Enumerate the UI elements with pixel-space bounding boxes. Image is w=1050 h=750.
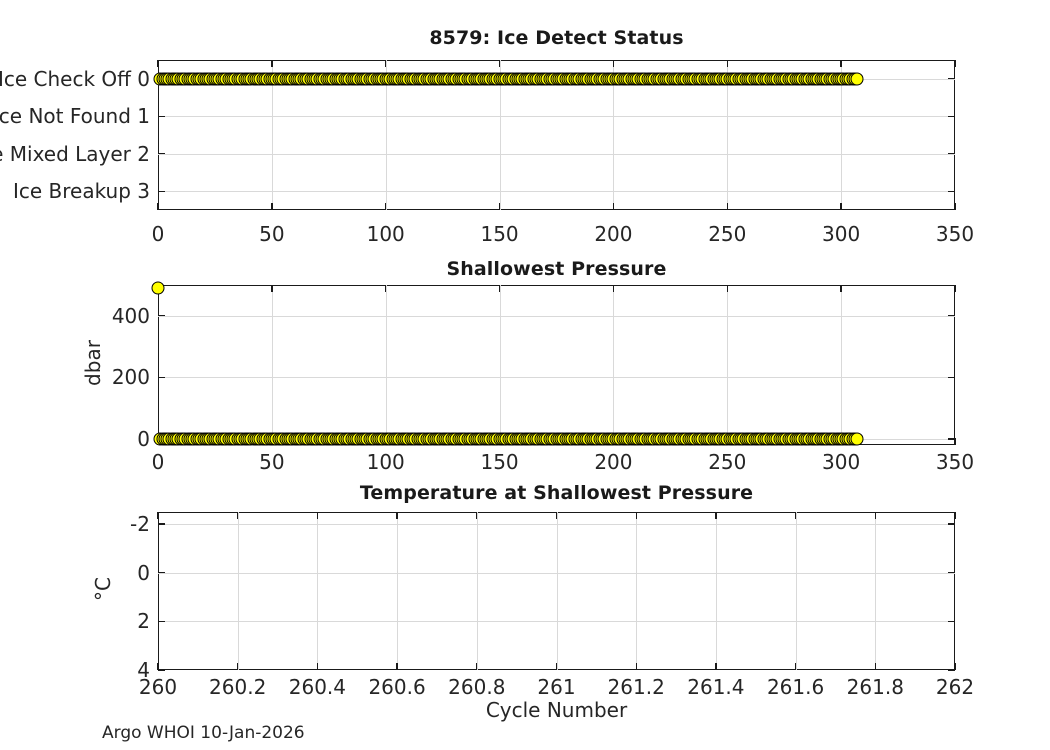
gridline-vertical [477, 512, 478, 670]
gridline-horizontal [158, 377, 955, 378]
x-tick-label: 261.2 [608, 675, 665, 699]
y-tick-label: 200 [112, 365, 150, 389]
axis-tick-x [385, 203, 386, 210]
subplot-temperature-at-shallowest-pressure: Temperature at Shallowest Pressure [158, 512, 955, 670]
axis-tick-x [157, 60, 158, 67]
axis-tick-y [158, 621, 165, 622]
axis-tick-y [948, 377, 955, 378]
axis-tick-y [948, 191, 955, 192]
gridline-vertical [557, 512, 558, 670]
axis-tick-y [948, 116, 955, 117]
axis-tick-x [476, 663, 477, 670]
axis-tick-x [636, 663, 637, 670]
x-tick-label: 250 [708, 450, 746, 474]
subplot-2-title: Shallowest Pressure [158, 258, 955, 280]
subplot-2-y-axis-label: dbar [81, 293, 105, 433]
x-tick-label: 261.6 [767, 675, 824, 699]
axis-tick-x [556, 512, 557, 519]
axis-tick-x [396, 663, 397, 670]
axis-tick-x [385, 285, 386, 292]
y-tick-label: Ice Not Found 1 [0, 104, 150, 128]
gridline-horizontal [158, 191, 955, 192]
gridline-vertical [727, 285, 728, 445]
axis-tick-x [636, 512, 637, 519]
x-tick-label: 300 [822, 222, 860, 246]
axis-tick-x [271, 285, 272, 292]
y-tick-label: Ice Breakup 3 [13, 179, 150, 203]
axis-tick-x [556, 663, 557, 670]
axis-tick-y [948, 669, 955, 670]
axis-tick-y [158, 669, 165, 670]
y-tick-label: 0 [137, 427, 150, 451]
axis-tick-y [158, 116, 165, 117]
axis-tick-x [317, 663, 318, 670]
axis-tick-x [875, 512, 876, 519]
y-tick-label: -2 [130, 512, 150, 536]
axis-tick-x [795, 663, 796, 670]
x-tick-label: 261 [537, 675, 575, 699]
axis-tick-y [948, 153, 955, 154]
x-tick-label: 200 [594, 450, 632, 474]
axis-tick-y [158, 523, 165, 524]
x-tick-label: 50 [259, 450, 284, 474]
x-tick-label: 260.6 [368, 675, 425, 699]
x-tick-label: 261.8 [847, 675, 904, 699]
axis-tick-x [237, 663, 238, 670]
axis-tick-x [237, 512, 238, 519]
axis-tick-y [948, 78, 955, 79]
x-tick-label: 150 [480, 450, 518, 474]
gridline-horizontal [158, 116, 955, 117]
data-point-marker-outlier [152, 282, 165, 295]
gridline-vertical [272, 285, 273, 445]
data-point-marker [851, 432, 864, 445]
x-tick-label: 260.4 [289, 675, 346, 699]
axis-tick-x [795, 512, 796, 519]
axis-tick-x [840, 203, 841, 210]
axis-tick-y [948, 572, 955, 573]
y-tick-label: 400 [112, 304, 150, 328]
gridline-vertical [613, 285, 614, 445]
axis-tick-x [385, 60, 386, 67]
x-tick-label: 0 [152, 450, 165, 474]
subplot-3-y-axis-label: °C [91, 519, 115, 659]
subplot-3-title: Temperature at Shallowest Pressure [158, 482, 955, 504]
gridline-vertical [397, 512, 398, 670]
subplot-1-title: 8579: Ice Detect Status [158, 27, 955, 49]
axis-tick-x [613, 203, 614, 210]
axis-tick-x [271, 203, 272, 210]
subplot-ice-detect-status: 8579: Ice Detect Status [158, 60, 955, 210]
axis-tick-y [948, 621, 955, 622]
x-axis-label: Cycle Number [158, 698, 955, 722]
x-tick-label: 300 [822, 450, 860, 474]
x-tick-label: 350 [936, 450, 974, 474]
figure-footer-credit: Argo WHOI 10-Jan-2026 [102, 723, 305, 743]
axis-tick-x [727, 203, 728, 210]
y-tick-label: e Mixed Layer 2 [0, 142, 150, 166]
gridline-horizontal [158, 316, 955, 317]
subplot-2-axes [158, 285, 955, 445]
axis-tick-x [499, 285, 500, 292]
axis-tick-x [954, 512, 955, 519]
gridline-vertical [238, 512, 239, 670]
axis-tick-x [271, 60, 272, 67]
x-tick-label: 260.2 [209, 675, 266, 699]
y-tick-label: Ice Check Off 0 [0, 67, 150, 91]
x-tick-label: 150 [480, 222, 518, 246]
x-tick-label: 350 [936, 222, 974, 246]
axis-tick-x [499, 203, 500, 210]
axis-tick-x [715, 512, 716, 519]
axis-tick-x [954, 203, 955, 210]
gridline-vertical [386, 285, 387, 445]
axis-tick-x [954, 285, 955, 292]
axis-tick-y [158, 153, 165, 154]
axis-tick-y [948, 523, 955, 524]
axis-tick-x [727, 60, 728, 67]
x-tick-label: 262 [936, 675, 974, 699]
axis-tick-x [875, 663, 876, 670]
x-tick-label: 260.8 [448, 675, 505, 699]
axis-tick-x [157, 512, 158, 519]
figure-canvas: 8579: Ice Detect Status 0501001502002503… [0, 0, 1050, 750]
x-tick-label: 261.4 [687, 675, 744, 699]
gridline-vertical [500, 285, 501, 445]
data-point-marker [851, 72, 864, 85]
gridline-vertical [796, 512, 797, 670]
gridline-vertical [317, 512, 318, 670]
axis-tick-x [476, 512, 477, 519]
gridline-horizontal [158, 154, 955, 155]
y-tick-label: 0 [137, 561, 150, 585]
x-tick-label: 100 [367, 450, 405, 474]
y-tick-label: 4 [137, 658, 150, 682]
gridline-vertical [841, 285, 842, 445]
axis-tick-x [727, 285, 728, 292]
gridline-horizontal [158, 573, 955, 574]
axis-tick-x [840, 60, 841, 67]
gridline-vertical [875, 512, 876, 670]
x-tick-label: 250 [708, 222, 746, 246]
axis-tick-y [948, 438, 955, 439]
gridline-horizontal [158, 524, 955, 525]
axis-tick-y [158, 191, 165, 192]
axis-tick-x [157, 203, 158, 210]
subplot-shallowest-pressure: Shallowest Pressure [158, 285, 955, 445]
gridline-vertical [636, 512, 637, 670]
gridline-vertical [716, 512, 717, 670]
x-tick-label: 200 [594, 222, 632, 246]
axis-tick-x [613, 285, 614, 292]
x-tick-label: 50 [259, 222, 284, 246]
axis-tick-y [158, 572, 165, 573]
axis-tick-x [715, 663, 716, 670]
axis-tick-y [948, 315, 955, 316]
axis-tick-x [396, 512, 397, 519]
y-tick-label: 2 [137, 609, 150, 633]
axis-tick-y [158, 315, 165, 316]
axis-tick-x [317, 512, 318, 519]
axis-tick-x [499, 60, 500, 67]
x-tick-label: 100 [367, 222, 405, 246]
axis-tick-y [158, 377, 165, 378]
axis-tick-x [613, 60, 614, 67]
gridline-horizontal [158, 621, 955, 622]
axis-tick-x [840, 285, 841, 292]
x-tick-label: 0 [152, 222, 165, 246]
axis-tick-x [954, 60, 955, 67]
